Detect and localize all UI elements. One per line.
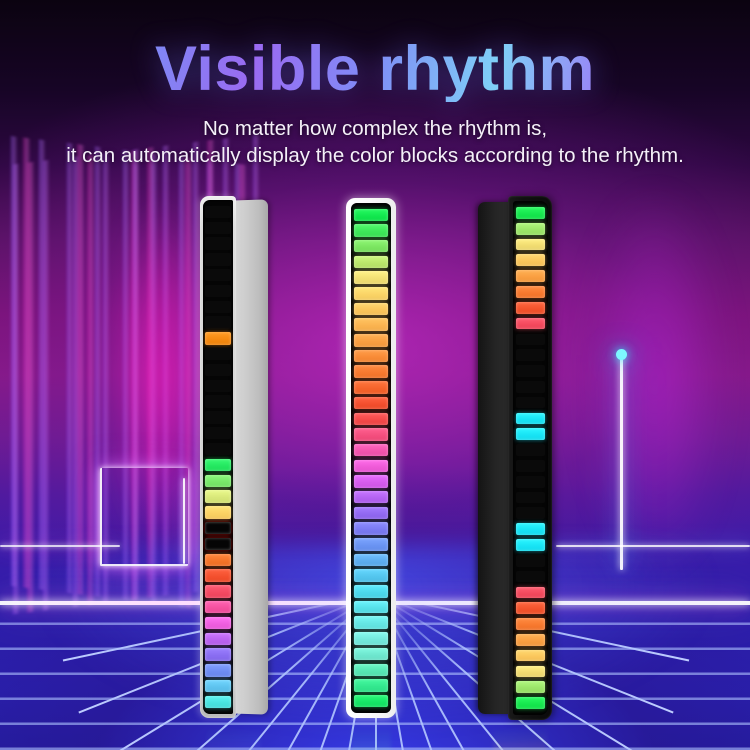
led-segment-on <box>516 254 545 266</box>
led-segment-off <box>516 334 545 346</box>
led-segment-on <box>354 303 388 316</box>
led-segment-on <box>354 491 388 504</box>
led-segment-on <box>205 506 230 518</box>
led-segment-on <box>354 287 388 300</box>
led-segment-on <box>354 413 388 426</box>
led-segment-on <box>205 696 230 708</box>
led-segment-off <box>205 285 230 297</box>
led-segment-on <box>516 223 545 235</box>
led-segment-off <box>516 349 545 361</box>
led-panel-silver <box>203 200 233 714</box>
led-segment-on <box>354 648 388 661</box>
led-panel-black <box>513 201 548 715</box>
led-segment-on <box>516 270 545 282</box>
led-segment-off <box>205 348 230 360</box>
neon-baseline-left <box>0 545 120 547</box>
led-segment-on <box>354 397 388 410</box>
led-segment-on <box>354 318 388 331</box>
product-banner: Visible rhythm No matter how complex the… <box>0 0 750 750</box>
led-segment-off <box>516 492 545 504</box>
led-segment-on <box>205 648 230 660</box>
led-segment-on <box>516 681 545 693</box>
led-segment-on <box>354 444 388 457</box>
led-segment-on <box>205 601 230 613</box>
led-segment-on <box>354 428 388 441</box>
led-segment-off <box>516 365 545 377</box>
led-segment-on <box>354 271 388 284</box>
led-segment-on <box>516 413 545 425</box>
led-segment-on <box>354 664 388 677</box>
led-segment-on <box>354 601 388 614</box>
led-panel-white <box>351 203 391 713</box>
led-segment-on <box>354 224 388 237</box>
led-segment-on <box>205 585 230 597</box>
led-segment-off <box>205 301 230 313</box>
led-segment-off <box>205 395 230 407</box>
led-segment-on <box>354 522 388 535</box>
led-segment-on <box>516 587 545 599</box>
led-segment-off <box>205 364 230 376</box>
device-white-light-bar[interactable] <box>340 198 402 718</box>
led-segment-off <box>516 571 545 583</box>
led-segment-on <box>205 490 230 502</box>
led-segment-on <box>354 538 388 551</box>
led-segment-on <box>516 239 545 251</box>
led-segment-on <box>354 381 388 394</box>
led-segment-on <box>354 695 388 708</box>
led-segment-off <box>205 443 230 455</box>
cyan-glow-dot-icon <box>616 349 627 360</box>
led-segment-on <box>354 679 388 692</box>
led-segment-off <box>205 253 230 265</box>
device-black-light-bar[interactable] <box>478 196 558 720</box>
led-segment-off <box>516 444 545 456</box>
led-segment-on <box>516 302 545 314</box>
led-segment-on <box>354 240 388 253</box>
led-segment-on <box>205 522 230 534</box>
led-segment-off <box>516 555 545 567</box>
led-segment-on <box>516 618 545 630</box>
neon-frame-left <box>100 468 188 566</box>
led-segment-on <box>516 428 545 440</box>
subtitle-line-2: it can automatically display the color b… <box>0 142 750 169</box>
device-silver-light-bar[interactable] <box>196 196 268 720</box>
led-segment-on <box>516 650 545 662</box>
led-segment-on <box>205 617 230 629</box>
led-segment-on <box>354 334 388 347</box>
led-segment-on <box>354 632 388 645</box>
led-segment-off <box>205 380 230 392</box>
led-segment-off <box>205 316 230 328</box>
page-title: Visible rhythm <box>0 36 750 102</box>
led-segment-on <box>354 350 388 363</box>
led-segment-on <box>354 460 388 473</box>
led-segment-on <box>516 602 545 614</box>
led-segment-off <box>516 507 545 519</box>
led-segment-off <box>205 269 230 281</box>
led-segment-on <box>205 569 230 581</box>
led-segment-off <box>516 476 545 488</box>
led-segment-off <box>205 237 230 249</box>
led-segment-off <box>516 397 545 409</box>
led-segment-on <box>354 475 388 488</box>
subtitle-line-1: No matter how complex the rhythm is, <box>203 117 547 140</box>
led-segment-on <box>205 475 230 487</box>
led-segment-on <box>354 507 388 520</box>
led-segment-on <box>354 569 388 582</box>
led-segment-off <box>205 411 230 423</box>
neon-frame-right <box>620 355 623 570</box>
led-segment-on <box>516 207 545 219</box>
led-segment-off <box>205 206 230 218</box>
page-subtitle: No matter how complex the rhythm is, it … <box>0 115 750 169</box>
led-segment-on <box>205 680 230 692</box>
led-segment-on <box>354 209 388 222</box>
led-segment-on <box>205 633 230 645</box>
led-segment-on <box>354 256 388 269</box>
led-segment-on <box>205 332 230 344</box>
led-segment-on <box>516 634 545 646</box>
led-segment-on <box>516 523 545 535</box>
led-segment-on <box>205 538 230 550</box>
led-segment-on <box>205 554 230 566</box>
led-segment-on <box>354 554 388 567</box>
neon-baseline-right <box>556 545 750 547</box>
led-segment-on <box>516 697 545 709</box>
led-segment-on <box>516 318 545 330</box>
led-segment-on <box>516 286 545 298</box>
led-segment-on <box>354 365 388 378</box>
neon-frame-left-edge <box>183 478 185 564</box>
led-segment-off <box>205 427 230 439</box>
led-segment-on <box>354 616 388 629</box>
led-segment-off <box>205 222 230 234</box>
led-segment-off <box>516 460 545 472</box>
led-segment-on <box>516 666 545 678</box>
led-segment-on <box>205 459 230 471</box>
led-segment-on <box>354 585 388 598</box>
led-segment-off <box>516 381 545 393</box>
led-segment-on <box>205 664 230 676</box>
led-segment-on <box>516 539 545 551</box>
